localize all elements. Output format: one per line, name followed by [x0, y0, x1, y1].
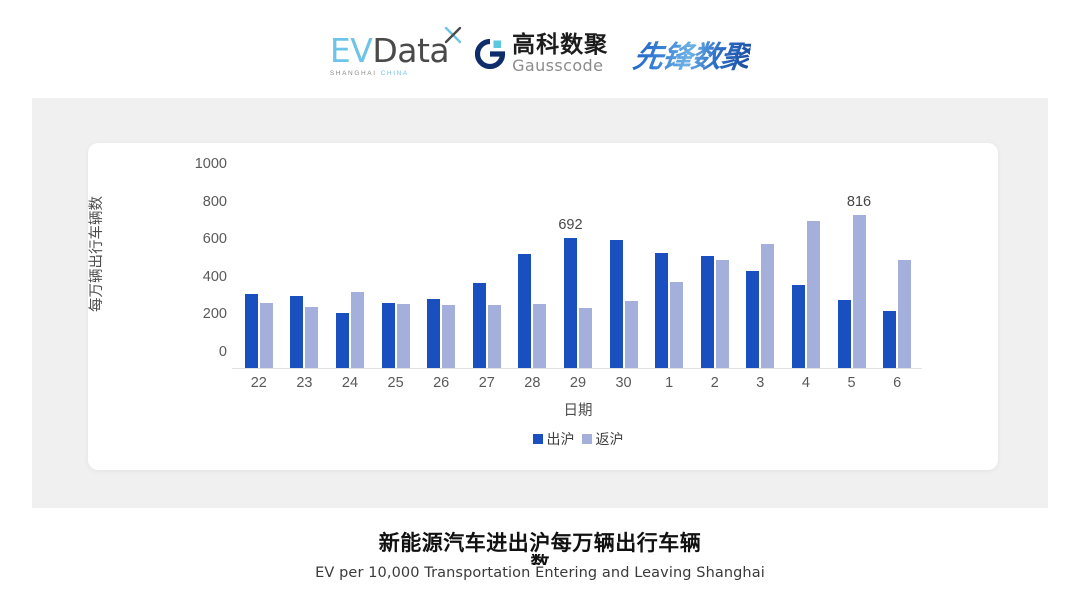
legend-label: 返沪 — [596, 429, 624, 449]
bar-返沪-22[interactable] — [260, 303, 273, 368]
bar-value-label: 816 — [847, 194, 871, 210]
x-axis-tick: 29 — [555, 375, 601, 391]
x-axis-tick: 5 — [829, 375, 875, 391]
bar-出沪-2[interactable] — [701, 256, 714, 368]
bar-group[interactable] — [282, 180, 328, 368]
x-axis-tick: 3 — [738, 375, 784, 391]
bar-返沪-1[interactable] — [670, 282, 683, 368]
x-axis-tick: 26 — [418, 375, 464, 391]
bar-返沪-2[interactable] — [716, 260, 729, 368]
bar-出沪-5[interactable] — [838, 300, 851, 368]
x-axis-title: 日期 — [236, 399, 920, 420]
evdata-ev-text: EV — [330, 34, 372, 67]
bar-返沪-30[interactable] — [625, 301, 638, 368]
x-axis-tick: 24 — [327, 375, 373, 391]
bar-返沪-28[interactable] — [533, 304, 546, 368]
y-axis-tick: 0 — [219, 344, 227, 360]
page-title: 新能源汽车进出沪每万辆出行车辆 — [0, 530, 1080, 556]
bar-返沪-29[interactable] — [579, 308, 592, 368]
page-subtitle: EV per 10,000 Transportation Entering an… — [0, 565, 1080, 581]
y-axis-tick: 1000 — [195, 156, 227, 172]
y-axis-tick: 800 — [203, 194, 227, 210]
legend-swatch-icon — [582, 434, 592, 444]
evdata-logo: EV Data SHANGHAI CHINA — [330, 30, 449, 77]
bar-出沪-1[interactable] — [655, 253, 668, 368]
gausscode-g-icon — [475, 39, 505, 69]
gausscode-wordmark: 高科数聚 Gausscode — [512, 34, 608, 74]
bar-出沪-3[interactable] — [746, 271, 759, 368]
x-axis-tick: 28 — [510, 375, 556, 391]
x-axis-tick: 4 — [783, 375, 829, 391]
bar-group[interactable] — [510, 180, 556, 368]
gausscode-en-text: Gausscode — [512, 58, 608, 74]
x-axis-tick: 1 — [646, 375, 692, 391]
bar-出沪-22[interactable] — [245, 294, 258, 368]
legend-swatch-icon — [533, 434, 543, 444]
bar-返沪-5[interactable]: 816 — [853, 215, 866, 368]
logo-bar: EV Data SHANGHAI CHINA 高科数聚 Gausscode — [0, 24, 1080, 82]
evdata-data-text: Data — [372, 34, 449, 67]
bar-返沪-6[interactable] — [898, 260, 911, 368]
x-mark-icon — [444, 26, 462, 44]
y-axis-tick: 200 — [203, 306, 227, 322]
x-axis-tick: 25 — [373, 375, 419, 391]
bar-group[interactable] — [236, 180, 282, 368]
bar-group[interactable] — [418, 180, 464, 368]
bar-返沪-24[interactable] — [351, 292, 364, 368]
x-axis-tick: 22 — [236, 375, 282, 391]
bar-出沪-29[interactable]: 692 — [564, 238, 577, 368]
bar-出沪-24[interactable] — [336, 313, 349, 368]
bar-group[interactable] — [464, 180, 510, 368]
bar-group[interactable] — [646, 180, 692, 368]
bar-group[interactable] — [783, 180, 829, 368]
legend-item-出沪[interactable]: 出沪 — [533, 429, 575, 449]
title-overlap-artifact: 数 — [530, 554, 549, 565]
bar-出沪-26[interactable] — [427, 299, 440, 368]
evdata-tagline: SHANGHAI CHINA — [330, 70, 409, 77]
evdata-tagline-country: CHINA — [381, 70, 409, 77]
bar-series-container: 692816 — [236, 180, 920, 368]
bar-group[interactable] — [327, 180, 373, 368]
x-axis-tick: 23 — [282, 375, 328, 391]
bar-group[interactable]: 816 — [829, 180, 875, 368]
bar-chart: 每万辆出行车辆数 02004006008001000 692816 222324… — [88, 143, 998, 470]
x-axis-tick: 27 — [464, 375, 510, 391]
bar-返沪-3[interactable] — [761, 244, 774, 368]
bar-group[interactable]: 692 — [555, 180, 601, 368]
legend-label: 出沪 — [547, 429, 575, 449]
bar-group[interactable] — [738, 180, 784, 368]
x-axis-tick: 30 — [601, 375, 647, 391]
bar-返沪-25[interactable] — [397, 304, 410, 368]
evdata-wordmark: EV Data — [330, 34, 449, 67]
gausscode-logo: 高科数聚 Gausscode — [475, 32, 608, 74]
bar-group[interactable] — [373, 180, 419, 368]
x-axis-tick: 6 — [874, 375, 920, 391]
bar-出沪-23[interactable] — [290, 296, 303, 368]
bar-出沪-27[interactable] — [473, 283, 486, 368]
bar-返沪-4[interactable] — [807, 221, 820, 368]
bar-返沪-23[interactable] — [305, 307, 318, 368]
bar-出沪-30[interactable] — [610, 240, 623, 368]
evdata-tagline-city: SHANGHAI — [330, 70, 377, 77]
chart-legend: 出沪返沪 — [236, 429, 920, 449]
bar-group[interactable] — [874, 180, 920, 368]
bar-出沪-25[interactable] — [382, 303, 395, 368]
caption-block: 新能源汽车进出沪每万辆出行车辆 数 EV per 10,000 Transpor… — [0, 530, 1080, 581]
gausscode-cn-text: 高科数聚 — [512, 34, 608, 57]
xianfeng-logo: 先锋数聚 — [631, 30, 753, 76]
x-axis-tick: 2 — [692, 375, 738, 391]
bar-value-label: 692 — [558, 217, 582, 233]
bar-group[interactable] — [692, 180, 738, 368]
legend-item-返沪[interactable]: 返沪 — [582, 429, 624, 449]
bar-出沪-4[interactable] — [792, 285, 805, 368]
bar-返沪-27[interactable] — [488, 305, 501, 368]
y-axis-tick: 600 — [203, 231, 227, 247]
y-axis-tick: 400 — [203, 269, 227, 285]
x-axis-labels: 222324252627282930123456 — [236, 375, 920, 391]
bar-group[interactable] — [601, 180, 647, 368]
bar-出沪-6[interactable] — [883, 311, 896, 368]
bar-出沪-28[interactable] — [518, 254, 531, 368]
plot-area: 02004006008001000 692816 — [236, 180, 920, 368]
y-axis-title: 每万辆出行车辆数 — [85, 179, 106, 329]
bar-返沪-26[interactable] — [442, 305, 455, 368]
chart-card: 每万辆出行车辆数 02004006008001000 692816 222324… — [88, 143, 998, 470]
